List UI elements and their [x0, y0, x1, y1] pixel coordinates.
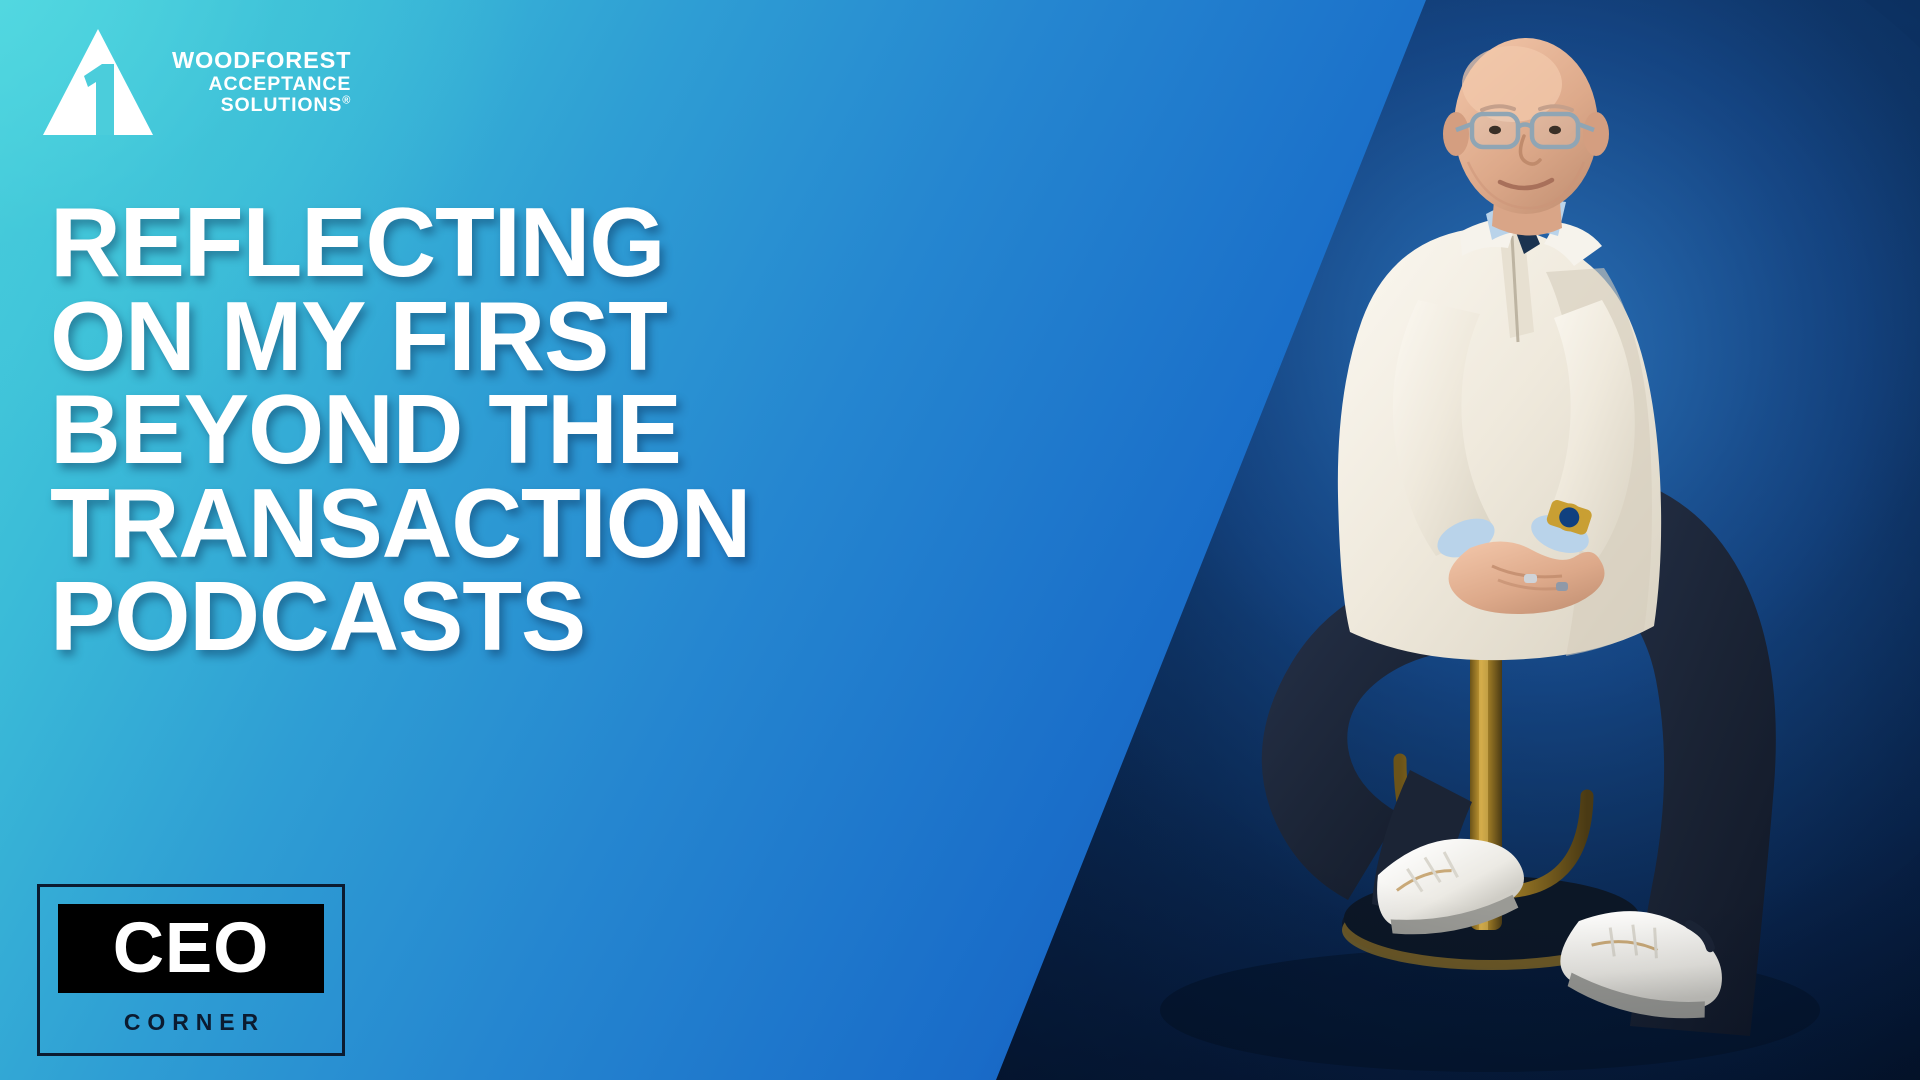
logo-line-3: SOLUTIONS® [221, 95, 352, 116]
logo-line-1: WOODFOREST [172, 48, 351, 73]
registered-mark: ® [342, 94, 351, 106]
ceo-badge-subtitle: CORNER [117, 1009, 265, 1036]
headline-line-5: PODCASTS [50, 570, 930, 664]
headline-line-2: ON MY FIRST [50, 290, 930, 384]
ceo-corner-badge: CEO CORNER [37, 884, 345, 1056]
woodforest-logo[interactable]: WOODFOREST ACCEPTANCE SOLUTIONS® [40, 26, 351, 138]
ceo-badge-title: CEO [113, 913, 269, 984]
logo-line-3-text: SOLUTIONS [221, 94, 343, 116]
woodforest-wordmark: WOODFOREST ACCEPTANCE SOLUTIONS® [172, 48, 351, 115]
logo-line-2: ACCEPTANCE [208, 74, 351, 95]
headline-line-3: BEYOND THE [50, 383, 930, 477]
podcast-title-card: WOODFOREST ACCEPTANCE SOLUTIONS® REFLECT… [0, 0, 1920, 1080]
headline-line-1: REFLECTING [50, 196, 930, 290]
ceo-badge-bar: CEO [58, 904, 324, 993]
page-title: REFLECTING ON MY FIRST BEYOND THE TRANSA… [50, 196, 930, 664]
headline-line-4: TRANSACTION [50, 477, 930, 571]
woodforest-arrow-one-logo-icon [40, 26, 156, 138]
